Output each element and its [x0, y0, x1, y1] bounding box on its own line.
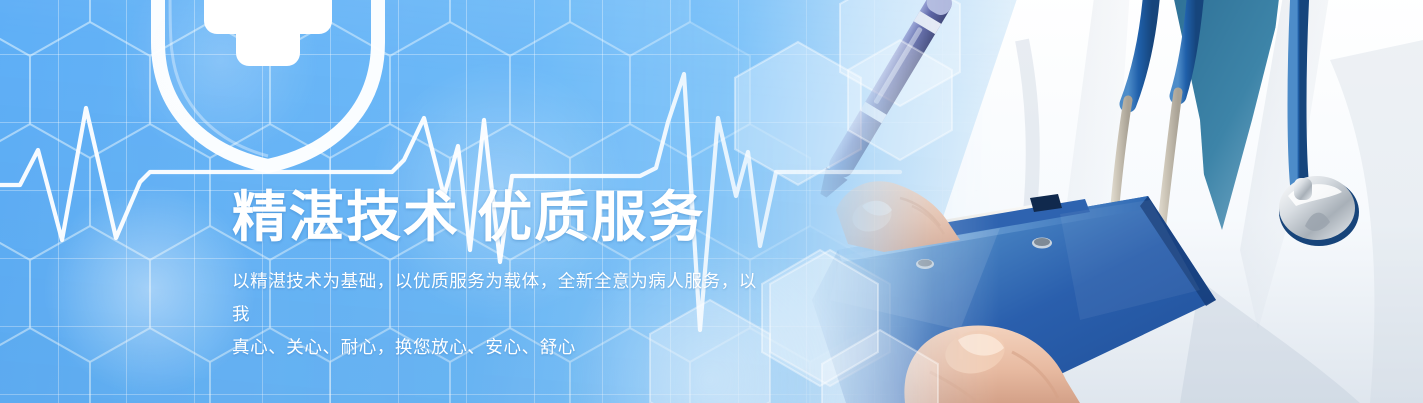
banner-subtitle-line-1: 以精湛技术为基础，以优质服务为载体，全新全意为病人服务，以我 [232, 265, 759, 331]
banner-text-block: 精湛技术 优质服务 以精湛技术为基础，以优质服务为载体，全新全意为病人服务，以我… [232, 186, 852, 364]
banner-headline: 精湛技术 优质服务 [232, 186, 852, 248]
medical-cross-icon [204, 0, 332, 66]
banner-subtitle-line-2: 真心、关心、耐心，换您放心、安心、舒心 [232, 331, 759, 364]
banner-subtitle: 以精湛技术为基础，以优质服务为载体，全新全意为病人服务，以我 真心、关心、耐心，… [232, 265, 759, 364]
medical-hero-banner: 精湛技术 优质服务 以精湛技术为基础，以优质服务为载体，全新全意为病人服务，以我… [0, 0, 1423, 403]
